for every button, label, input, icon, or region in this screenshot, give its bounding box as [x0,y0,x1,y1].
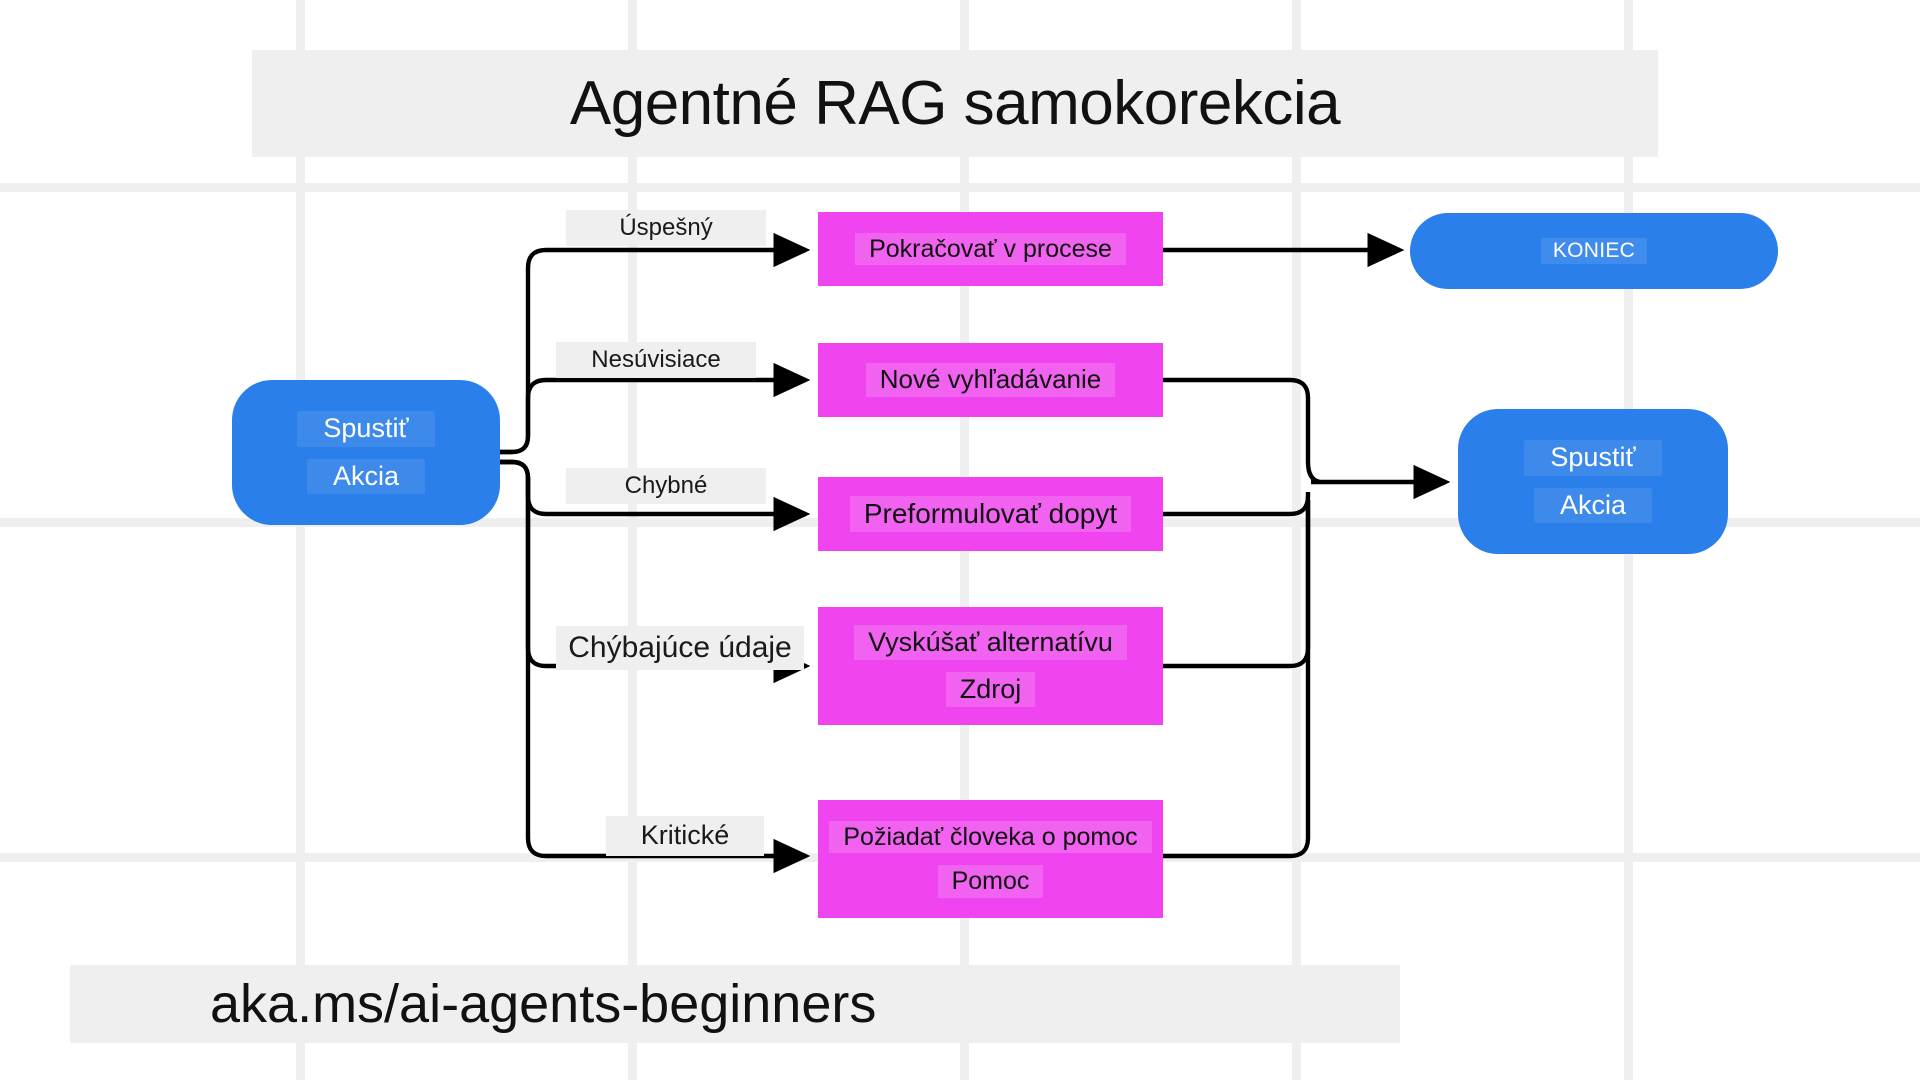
node-retry-line1: Spustiť [1524,440,1661,476]
node-end-label: KONIEC [1541,238,1647,264]
edge-label-missing-data: Chýbajúce údaje [556,626,804,670]
edge-label-erroneous-text: Chybné [625,472,708,499]
edge-label-critical-text: Kritické [641,820,730,850]
node-alt-source[interactable]: Vyskúšať alternatívu Zdroj [818,607,1163,725]
node-start-line1: Spustiť [297,411,434,447]
edge-human-help-to-bus [1163,500,1308,856]
node-human-help[interactable]: Požiadať človeka o pomoc Pomoc [818,800,1163,918]
diagram-canvas: Agentné RAG samokorekcia [0,0,1920,1080]
edge-label-success: Úspešný [566,210,766,246]
node-continue-line1: Pokračovať v procese [855,233,1126,266]
edge-label-unrelated: Nesúvisiace [556,342,756,378]
edge-label-missing-data-text: Chýbajúce údaje [568,631,792,664]
node-end[interactable]: KONIEC [1410,213,1778,289]
node-alt-source-line1: Vyskúšať alternatívu [854,625,1127,660]
footer-link-banner[interactable]: aka.ms/ai-agents-beginners [70,965,1400,1043]
node-reformulate[interactable]: Preformulovať dopyt [818,477,1163,551]
edge-label-critical: Kritické [606,816,764,856]
node-human-help-line2: Pomoc [938,865,1044,898]
node-reformulate-line1: Preformulovať dopyt [850,496,1131,532]
node-continue[interactable]: Pokračovať v procese [818,212,1163,286]
edge-label-success-text: Úspešný [619,214,712,241]
edge-new-search-to-bus [1163,380,1320,482]
edge-label-erroneous: Chybné [566,468,766,504]
node-human-help-line1: Požiadať človeka o pomoc [829,821,1151,854]
node-retry-line2: Akcia [1534,488,1652,524]
edge-reformulate-to-bus [1163,492,1308,514]
footer-link-text: aka.ms/ai-agents-beginners [210,973,876,1035]
edge-label-unrelated-text: Nesúvisiace [591,346,720,373]
node-new-search-line1: Nové vyhľadávanie [866,363,1116,397]
node-retry[interactable]: Spustiť Akcia [1458,409,1728,554]
node-alt-source-line2: Zdroj [946,672,1036,707]
node-start-line2: Akcia [307,459,425,495]
node-new-search[interactable]: Nové vyhľadávanie [818,343,1163,417]
edge-start-to-new-search [500,380,806,452]
node-start[interactable]: Spustiť Akcia [232,380,500,525]
edge-alt-source-to-bus [1163,500,1308,666]
